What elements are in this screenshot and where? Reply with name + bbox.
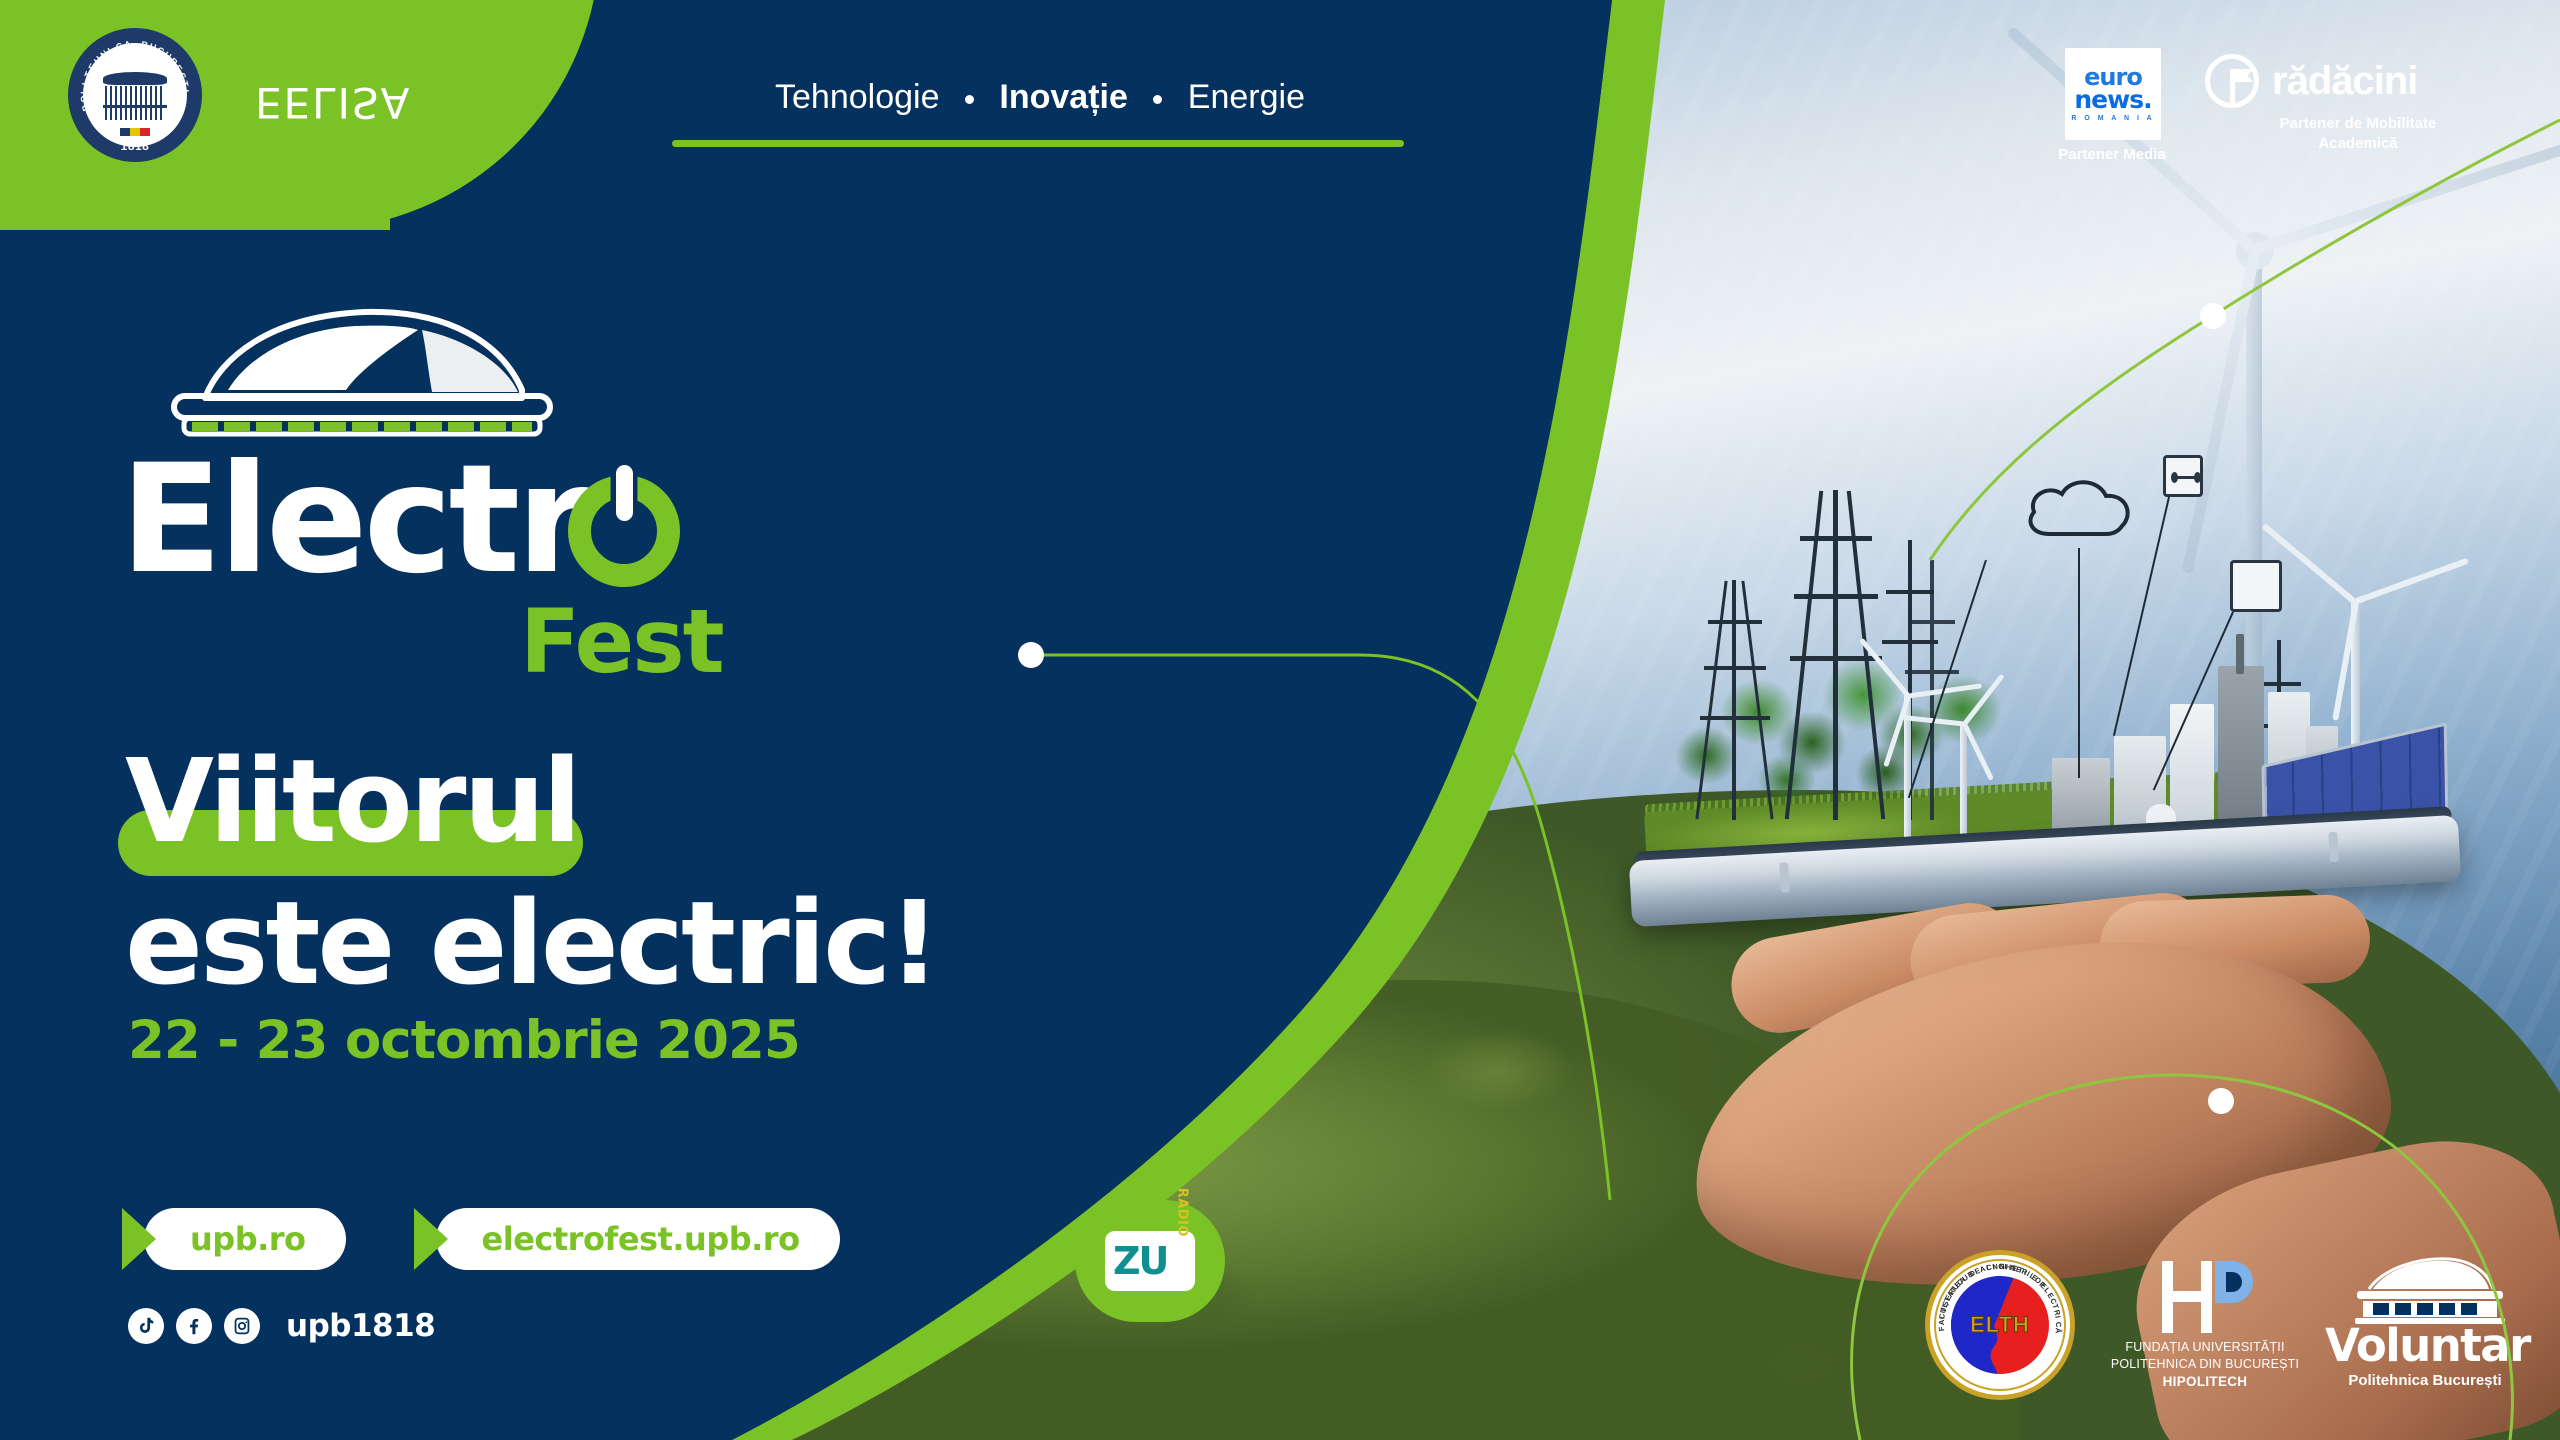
zu-radio-badge: ZU RADIO [1075,1200,1225,1322]
event-date: 22 - 23 octombrie 2025 [128,1010,800,1071]
seal-year: 1818 [68,139,202,153]
fest-text: Fest [520,590,723,693]
social-links: upb1818 [128,1308,435,1344]
nav-item-tehnologie[interactable]: Tehnologie [775,78,939,116]
url-pills: upb.ro electrofest.upb.ro [122,1208,840,1270]
footer-sponsors: FACULTATEA DE INGINERIE ELECTRICĂPOLITEH… [1925,1245,2545,1425]
hipolitech-line1: FUNDAȚIA UNIVERSITĂȚII [2110,1339,2300,1356]
caption-line1: Partener de Mobilitate [2193,114,2523,134]
elth-acronym: ELTH [1925,1312,2075,1338]
euronews-country: R O M A N I A [2071,115,2154,122]
euronews-line2: news. [2074,88,2151,112]
hipolitech-logo: FUNDAȚIA UNIVERSITĂȚII POLITEHNICA DIN B… [2110,1253,2300,1389]
arrow-marker-icon [414,1208,448,1270]
electro-wordmark: Electr [120,445,586,595]
top-partners: euro news. R O M A N I A Partener Media … [2045,48,2545,178]
radacini-logo: rădăcini [2205,54,2417,108]
hp-mark-icon [2110,1253,2300,1339]
power-button-icon [568,475,680,587]
electrofest-banner: POLITEHNICA BUCUREȘTI 1818 EELISA Tehnol… [0,0,2560,1440]
voluntar-building-icon [2325,1255,2525,1327]
zu-radio-card: ZU RADIO [1105,1231,1195,1291]
nav-underline [672,140,1404,147]
link-upb-ro[interactable]: upb.ro [122,1208,346,1270]
romanian-flag-icon [120,128,150,136]
link-electrofest-upb-ro[interactable]: electrofest.upb.ro [414,1208,840,1270]
voluntar-subtitle: Politehnica București [2325,1372,2525,1389]
caption-line2: Academică [2193,134,2523,154]
arrow-marker-icon [122,1208,156,1270]
voluntar-wordmark: Voluntar [2325,1323,2525,1368]
partener-mobilitate-caption: Partener de Mobilitate Academică [2193,114,2523,155]
link-label: upb.ro [190,1220,306,1258]
voluntar-logo: Voluntar Politehnica București [2325,1255,2525,1389]
radacini-wordmark: rădăcini [2272,59,2417,104]
euronews-logo: euro news. R O M A N I A [2065,48,2161,140]
maglev-train-icon [150,290,580,450]
nav-separator-dot [1153,95,1162,104]
nav-item-energie[interactable]: Energie [1188,78,1305,116]
tiktok-icon[interactable] [128,1308,164,1344]
instagram-icon[interactable] [224,1308,260,1344]
university-building-icon [101,72,169,120]
electro-text: Electr [120,433,586,607]
electrofest-logo: Electr Fest [120,290,820,690]
power-pylon-icon [1790,490,1882,820]
upb-seal-icon: POLITEHNICA BUCUREȘTI 1818 [68,28,202,162]
nav-separator-dot [965,95,974,104]
eelisa-logo: EELISA [255,78,411,127]
display-icon [2230,560,2282,612]
zu-wordmark: ZU [1113,1242,1167,1280]
radio-label: RADIO [1174,1188,1189,1237]
power-pylon-icon [1700,580,1770,820]
hipolitech-line2: POLITEHNICA DIN BUCUREȘTI [2110,1356,2300,1373]
cloud-icon [2020,470,2140,548]
headline-line2: este electric! [125,887,1025,1002]
nav-taglines: Tehnologie Inovație Energie [670,78,1410,117]
facebook-icon[interactable] [176,1308,212,1344]
social-handle: upb1818 [286,1308,435,1344]
headline-block: Viitorul este electric! [125,745,1025,1002]
radacini-mark-icon [2205,54,2259,108]
elth-seal-icon: FACULTATEA DE INGINERIE ELECTRICĂPOLITEH… [1925,1250,2075,1400]
headline-line1: Viitorul [125,745,1025,860]
hipolitech-line3: HIPOLITECH [2110,1374,2300,1389]
meter-icon [2163,455,2203,497]
partener-media-caption: Partener Media [2027,146,2197,163]
nav-item-inovatie[interactable]: Inovație [999,78,1127,116]
connector-line [2078,548,2080,778]
link-label: electrofest.upb.ro [482,1220,800,1258]
